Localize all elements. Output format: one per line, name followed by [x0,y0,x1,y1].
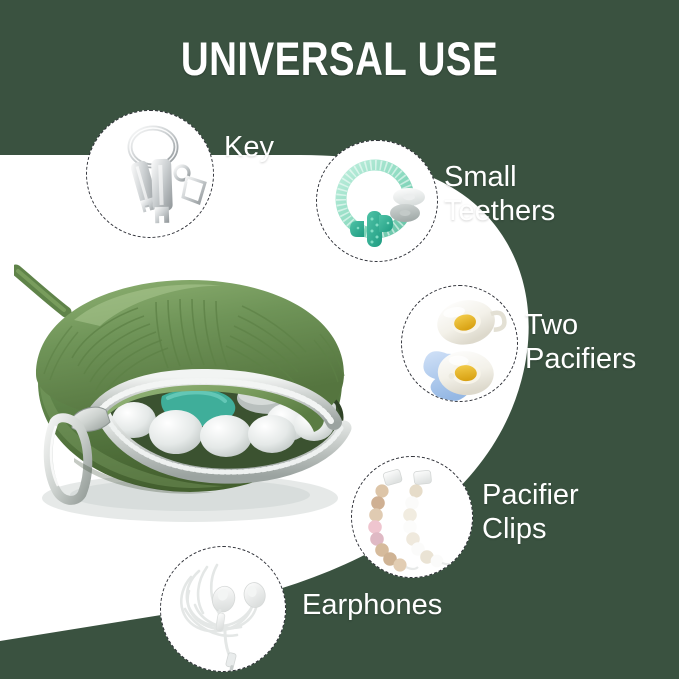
callout-label-small-teethers: Small Teethers [444,160,555,228]
infographic-root: UNIVERSAL USE [0,0,679,679]
product-pouch-image [14,262,362,530]
callout-pacifier-clips [351,456,473,578]
cactus-teether-ring-icon [317,141,438,262]
callout-label-earphones: Earphones [302,588,442,622]
two-pacifiers-icon [402,286,518,402]
beaded-pacifier-clips-icon [352,457,473,578]
callout-key [86,110,214,238]
callout-small-teethers [316,140,438,262]
earphones-icon [161,547,286,672]
callout-label-key: Key [224,130,274,164]
callout-earphones [160,546,286,672]
callout-two-pacifiers [401,285,518,402]
keys-on-keyring-icon [87,111,214,238]
callout-label-two-pacifiers: Two Pacifiers [525,308,636,376]
callout-label-pacifier-clips: Pacifier Clips [482,478,579,546]
page-title: UNIVERSAL USE [61,34,618,83]
